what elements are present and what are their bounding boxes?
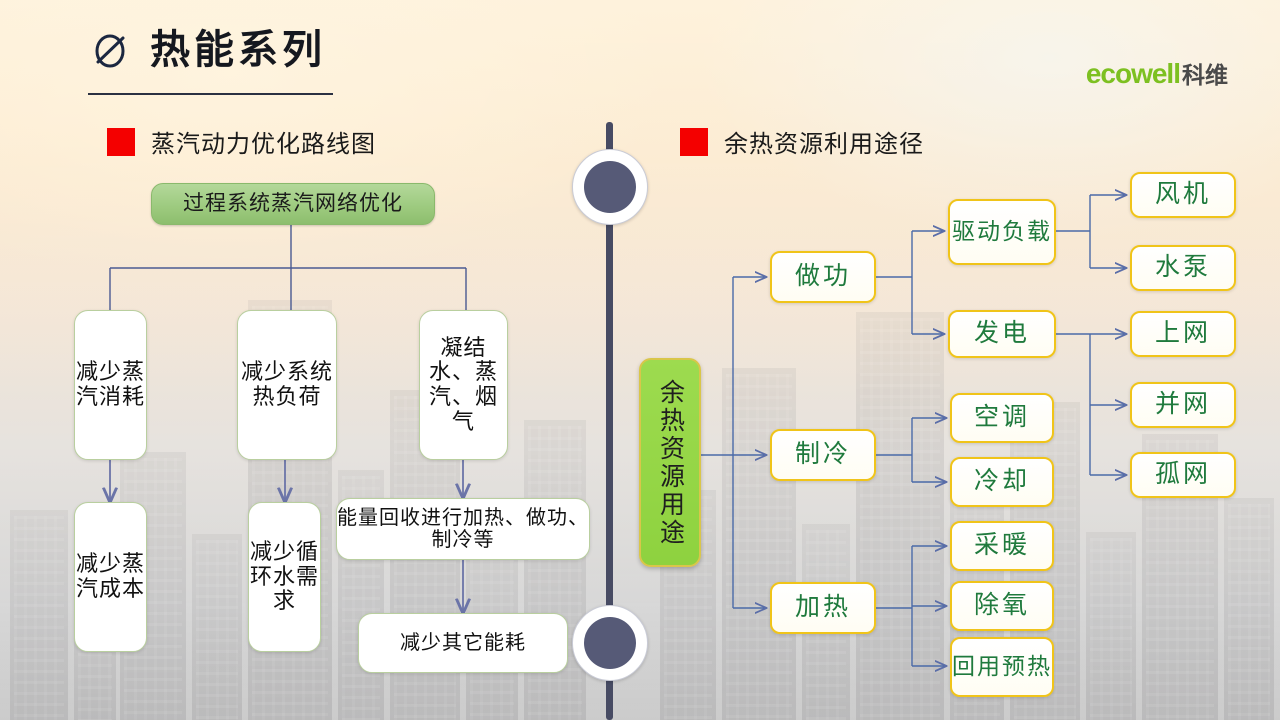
section-header-left: 蒸汽动力优化路线图 [107,124,376,159]
left-node-row2-0[interactable]: 减少蒸汽成本 [74,502,147,652]
right-node-l2-3[interactable]: 冷却 [950,457,1054,507]
section-label-left: 蒸汽动力优化路线图 [151,124,376,159]
left-node-row2-1[interactable]: 减少循环水需求 [248,502,321,652]
left-node-row1-2[interactable]: 凝结水、蒸汽、烟气 [419,310,508,460]
slash-circle-icon [88,28,132,72]
right-node-l2-0[interactable]: 驱动负载 [948,199,1056,265]
title-underline [88,93,333,95]
center-rail-dot-bottom [572,605,648,681]
logo-main-text: ecowell [1086,60,1180,88]
right-node-l2-5[interactable]: 除氧 [950,581,1054,631]
logo-cn-text: 科维 [1182,64,1228,87]
right-node-l1-2[interactable]: 加热 [770,582,876,634]
background-haze [0,0,1280,720]
page-title: 热能系列 [150,30,326,70]
right-node-l2-4[interactable]: 采暖 [950,521,1054,571]
left-root-node[interactable]: 过程系统蒸汽网络优化 [151,183,435,225]
left-node-row2-2[interactable]: 能量回收进行加热、做功、制冷等 [336,498,590,560]
right-node-l3-0[interactable]: 风机 [1130,172,1236,218]
slide-canvas: 热能系列 ecowell 科维 蒸汽动力优化路线图 余热资源利用途径 [0,0,1280,720]
red-square-bullet-icon [107,128,135,156]
right-node-l1-0[interactable]: 做功 [770,251,876,303]
center-vertical-label: 余热资源用途 [658,379,683,547]
right-node-l2-2[interactable]: 空调 [950,393,1054,443]
left-node-row3-0[interactable]: 减少其它能耗 [358,613,568,673]
right-node-l3-4[interactable]: 孤网 [1130,452,1236,498]
right-node-l1-1[interactable]: 制冷 [770,429,876,481]
right-node-l3-3[interactable]: 并网 [1130,382,1236,428]
left-node-row1-1[interactable]: 减少系统热负荷 [237,310,337,460]
section-header-right: 余热资源利用途径 [680,124,924,159]
center-rail-dot-top [572,149,648,225]
section-label-right: 余热资源利用途径 [724,124,924,159]
right-node-l2-1[interactable]: 发电 [948,310,1056,358]
right-node-l3-2[interactable]: 上网 [1130,311,1236,357]
brand-logo: ecowell 科维 [1086,60,1228,88]
left-node-row1-0[interactable]: 减少蒸汽消耗 [74,310,147,460]
red-square-bullet-icon [680,128,708,156]
right-node-l2-6[interactable]: 回用预热 [950,637,1054,697]
right-node-l3-1[interactable]: 水泵 [1130,245,1236,291]
center-vertical-label-box[interactable]: 余热资源用途 [639,358,701,567]
page-title-row: 热能系列 [88,28,326,72]
